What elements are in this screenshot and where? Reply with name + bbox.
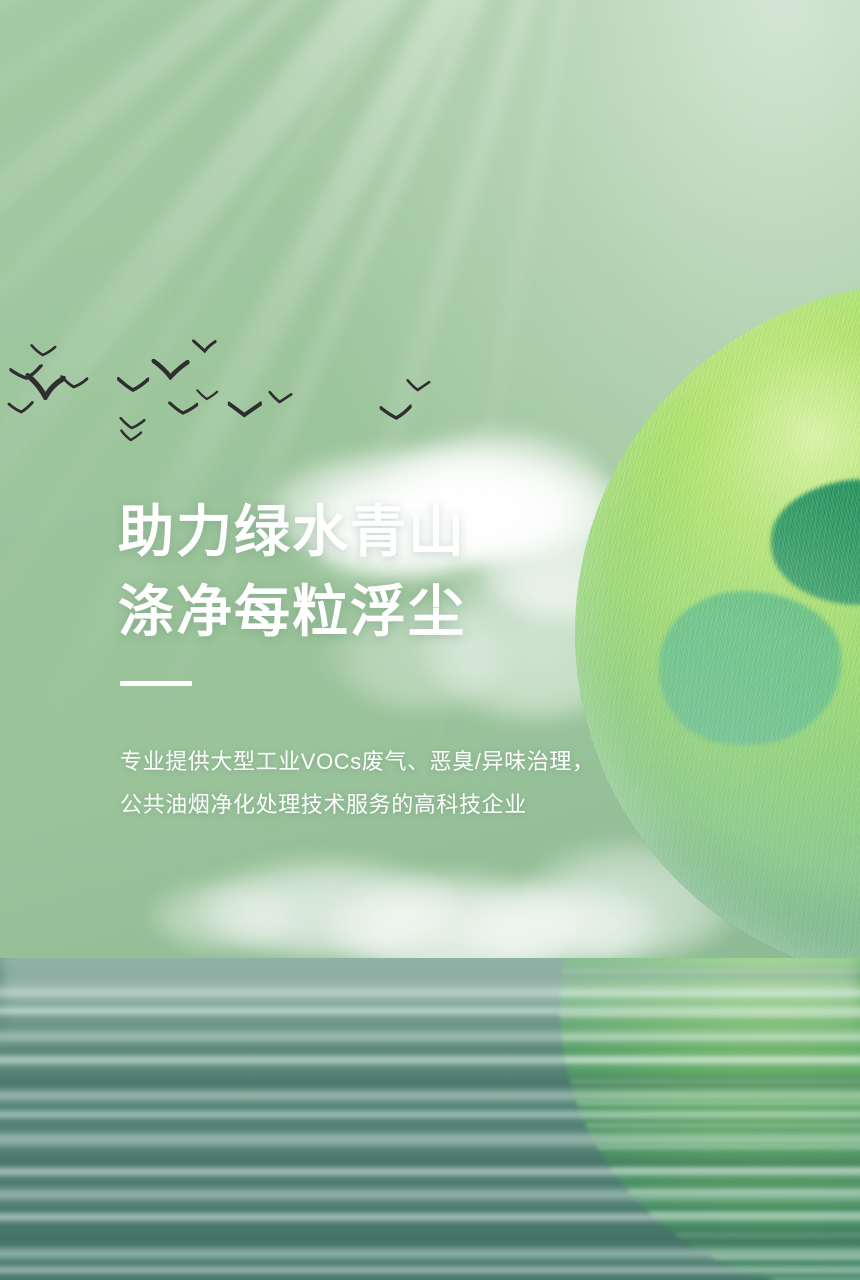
water-ripple-band: [0, 1054, 860, 1066]
water-ripple-band: [0, 1088, 860, 1104]
bird-icon: [406, 379, 431, 393]
bird-icon: [168, 401, 198, 416]
water-ripple-band: [0, 1110, 860, 1119]
bird-flock: [0, 330, 470, 460]
bird-icon: [192, 336, 218, 355]
bird-icon: [380, 404, 413, 422]
headline-divider: [120, 681, 192, 686]
water-ripple-band: [0, 1186, 860, 1204]
bird-icon: [117, 377, 149, 394]
bird-icon: [120, 429, 143, 442]
headline-line-1: 助力绿水青山: [118, 492, 678, 572]
hero-banner: 助力绿水青山 涤净每粒浮尘 专业提供大型工业VOCs废气、恶臭/异味治理， 公共…: [0, 0, 860, 1280]
bird-icon: [30, 344, 57, 359]
hero-text-block: 助力绿水青山 涤净每粒浮尘 专业提供大型工业VOCs废气、恶臭/异味治理， 公共…: [118, 492, 678, 824]
bird-icon: [196, 389, 219, 402]
water-ripple-band: [0, 1266, 860, 1274]
subtitle-line-1: 专业提供大型工业VOCs废气、恶臭/异味治理，: [120, 742, 678, 781]
water-surface: [0, 958, 860, 1280]
water-horizon-mist: [0, 958, 860, 1038]
water-ripple-band: [0, 1246, 860, 1262]
water-ripple-band: [0, 1166, 860, 1177]
subtitle-line-2: 公共油烟净化处理技术服务的高科技企业: [120, 785, 678, 824]
bird-icon: [8, 401, 35, 416]
bird-icon: [60, 375, 89, 390]
bird-icon: [228, 399, 263, 418]
water-ripple-band: [0, 1130, 860, 1150]
headline-line-2: 涤净每粒浮尘: [118, 572, 678, 652]
bird-icon: [151, 357, 190, 381]
bird-icon: [267, 391, 292, 405]
water-ripple-band: [0, 1212, 860, 1222]
